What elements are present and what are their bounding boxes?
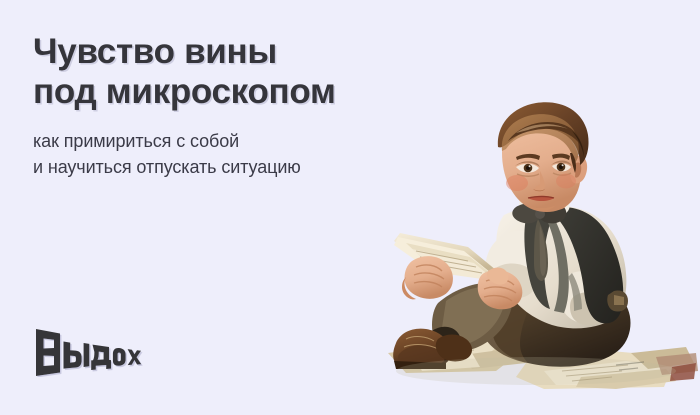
head (498, 102, 589, 212)
ground-shadow (396, 357, 676, 385)
page-subtitle: как примириться с собой и научиться отпу… (33, 128, 433, 180)
headline-line-1: Чувство вины (33, 32, 277, 71)
subhead-line-2: и научиться отпускать ситуацию (33, 154, 433, 180)
logo-wordmark-icon (34, 327, 164, 377)
text-block: Чувство вины под микроскопом как примири… (33, 32, 433, 180)
headline-line-2: под микроскопом (33, 72, 433, 112)
subhead-line-1: как примириться с собой (33, 131, 239, 151)
promo-banner: Чувство вины под микроскопом как примири… (0, 0, 700, 415)
page-title: Чувство вины под микроскопом (33, 32, 433, 112)
brand-logo[interactable] (34, 327, 164, 377)
